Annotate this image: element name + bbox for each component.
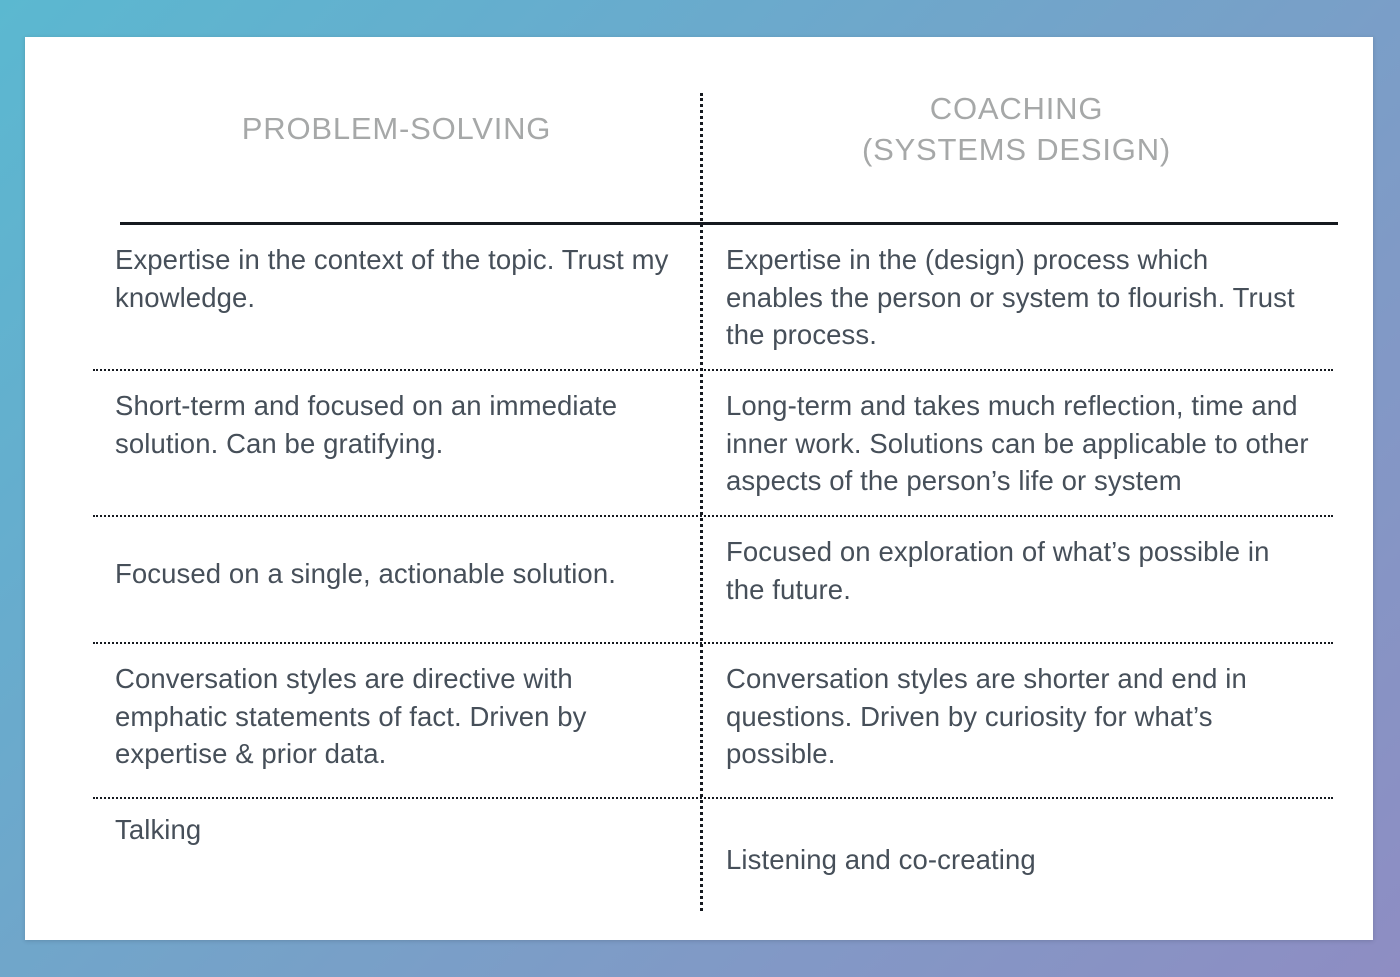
column-header-label: COACHING (SYSTEMS DESIGN) xyxy=(862,89,1171,171)
column-header-problem-solving: PROBLEM-SOLVING xyxy=(93,37,700,222)
cell-problem-solving: Short-term and focused on an immediate s… xyxy=(93,371,700,515)
cell-coaching: Conversation styles are shorter and end … xyxy=(700,644,1333,797)
table-row: Talking Listening and co-creating xyxy=(93,799,1333,949)
cell-text: Expertise in the (design) process which … xyxy=(726,241,1313,354)
cell-coaching: Long-term and takes much reflection, tim… xyxy=(700,371,1333,515)
table-row: Conversation styles are directive with e… xyxy=(93,644,1333,799)
cell-problem-solving: Talking xyxy=(93,799,700,949)
cell-text: Short-term and focused on an immediate s… xyxy=(115,387,680,462)
table-row: Focused on a single, actionable solution… xyxy=(93,517,1333,644)
table-row: Short-term and focused on an immediate s… xyxy=(93,371,1333,517)
table-row: Expertise in the context of the topic. T… xyxy=(93,225,1333,371)
cell-coaching: Expertise in the (design) process which … xyxy=(700,225,1333,369)
column-header-coaching: COACHING (SYSTEMS DESIGN) xyxy=(700,37,1333,222)
cell-problem-solving: Conversation styles are directive with e… xyxy=(93,644,700,797)
cell-text: Focused on a single, actionable solution… xyxy=(115,555,680,593)
cell-coaching: Focused on exploration of what’s possibl… xyxy=(700,517,1333,642)
comparison-table: PROBLEM-SOLVING COACHING (SYSTEMS DESIGN… xyxy=(93,37,1333,940)
table-header-row: PROBLEM-SOLVING COACHING (SYSTEMS DESIGN… xyxy=(93,37,1333,222)
cell-text: Listening and co-creating xyxy=(726,841,1313,879)
cell-text: Long-term and takes much reflection, tim… xyxy=(726,387,1313,500)
cell-text: Conversation styles are shorter and end … xyxy=(726,660,1313,773)
table-body: Expertise in the context of the topic. T… xyxy=(93,225,1333,949)
cell-problem-solving: Expertise in the context of the topic. T… xyxy=(93,225,700,369)
cell-text: Expertise in the context of the topic. T… xyxy=(115,241,680,316)
slide-card: PROBLEM-SOLVING COACHING (SYSTEMS DESIGN… xyxy=(25,37,1373,940)
cell-text: Focused on exploration of what’s possibl… xyxy=(726,533,1313,608)
cell-text: Talking xyxy=(115,811,680,849)
column-header-label: PROBLEM-SOLVING xyxy=(242,109,551,150)
cell-problem-solving: Focused on a single, actionable solution… xyxy=(93,517,700,642)
slide-canvas: PROBLEM-SOLVING COACHING (SYSTEMS DESIGN… xyxy=(0,0,1400,977)
cell-text: Conversation styles are directive with e… xyxy=(115,660,680,773)
cell-coaching: Listening and co-creating xyxy=(700,799,1333,949)
